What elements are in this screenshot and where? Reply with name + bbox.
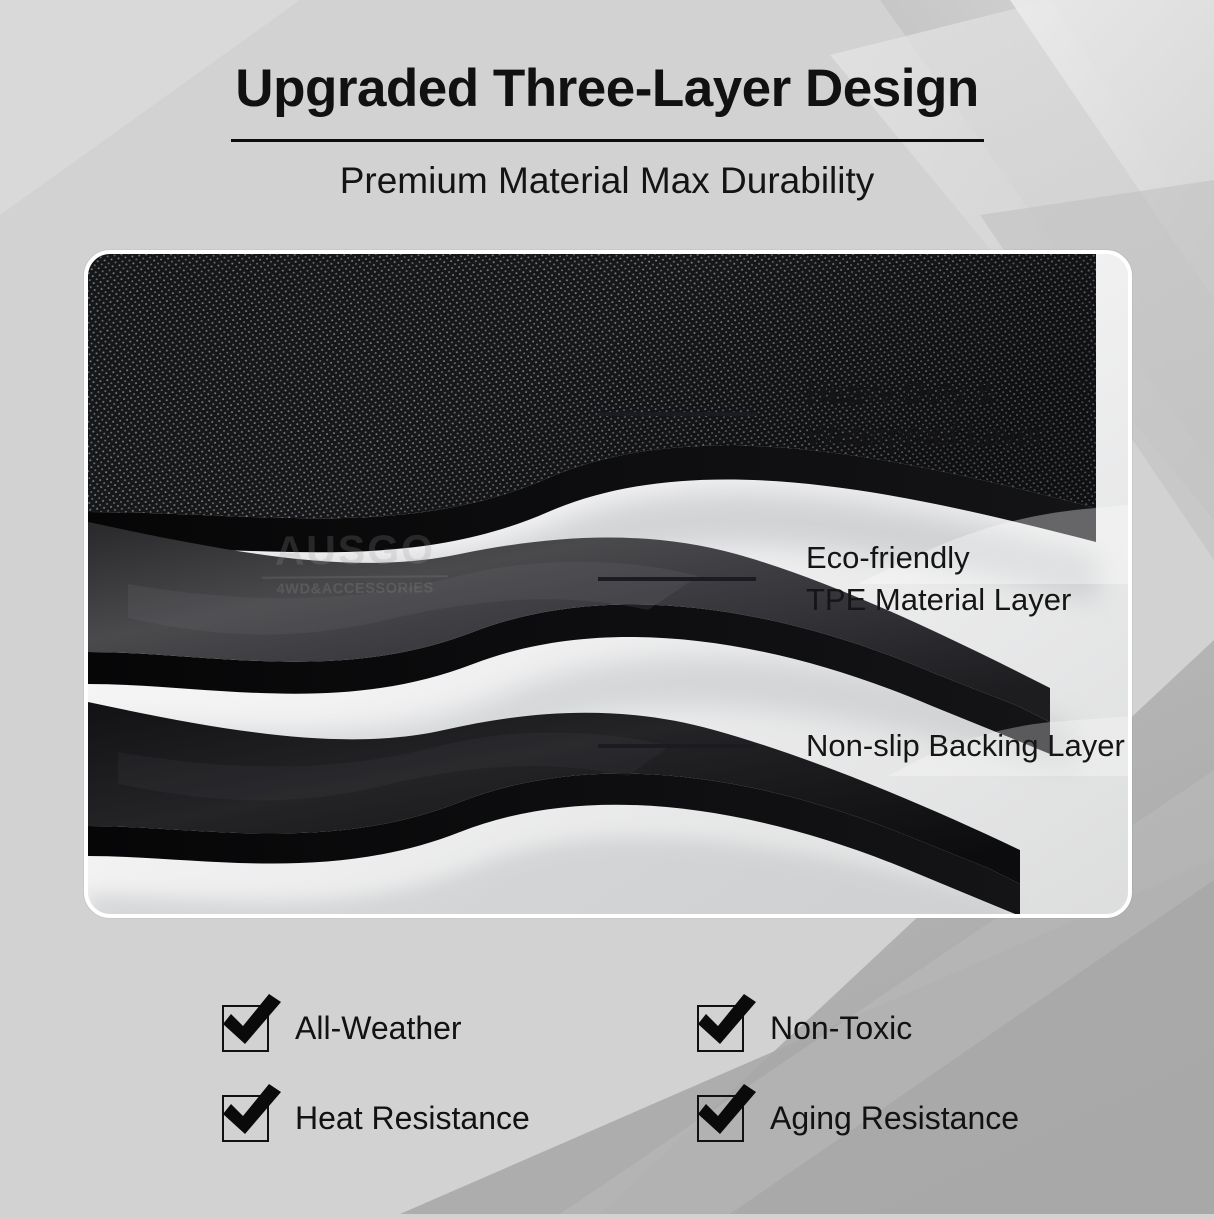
check-icon bbox=[692, 992, 762, 1054]
check-icon bbox=[692, 1082, 762, 1144]
feature-label: Non-Toxic bbox=[770, 1012, 912, 1044]
feature-heat-resistance: Heat Resistance bbox=[222, 1073, 697, 1163]
callout-leader-line bbox=[598, 744, 756, 748]
title-divider bbox=[231, 139, 984, 142]
callout-non-slip: Non-slip Backing Layer bbox=[598, 725, 1125, 767]
feature-label: All-Weather bbox=[295, 1012, 462, 1044]
callout-tpe: Eco-friendly TPE Material Layer bbox=[598, 537, 1071, 620]
checkbox-checked[interactable] bbox=[222, 1005, 269, 1052]
check-icon bbox=[217, 992, 287, 1054]
feature-label: Heat Resistance bbox=[295, 1102, 530, 1134]
checkbox-checked[interactable] bbox=[697, 1005, 744, 1052]
feature-all-weather: All-Weather bbox=[222, 983, 697, 1073]
callout-leader-line bbox=[598, 577, 756, 581]
callout-leader-line bbox=[598, 412, 756, 416]
callout-label: Non-slip Backing Layer bbox=[806, 725, 1125, 767]
feature-list: All-Weather Non-Toxic Heat Resistance Ag… bbox=[222, 983, 1122, 1163]
page-subtitle: Premium Material Max Durability bbox=[0, 162, 1214, 199]
callout-label: Heavy Duty & Waterproof Layer bbox=[806, 372, 1044, 455]
callout-heavy-duty: Heavy Duty & Waterproof Layer bbox=[598, 372, 1044, 455]
checkbox-checked[interactable] bbox=[697, 1095, 744, 1142]
page-title: Upgraded Three-Layer Design bbox=[0, 62, 1214, 115]
feature-label: Aging Resistance bbox=[770, 1102, 1019, 1134]
feature-non-toxic: Non-Toxic bbox=[697, 983, 1122, 1073]
checkbox-checked[interactable] bbox=[222, 1095, 269, 1142]
callout-label: Eco-friendly TPE Material Layer bbox=[806, 537, 1071, 620]
check-icon bbox=[217, 1082, 287, 1144]
header: Upgraded Three-Layer Design Premium Mate… bbox=[0, 0, 1214, 199]
feature-aging-resistance: Aging Resistance bbox=[697, 1073, 1122, 1163]
